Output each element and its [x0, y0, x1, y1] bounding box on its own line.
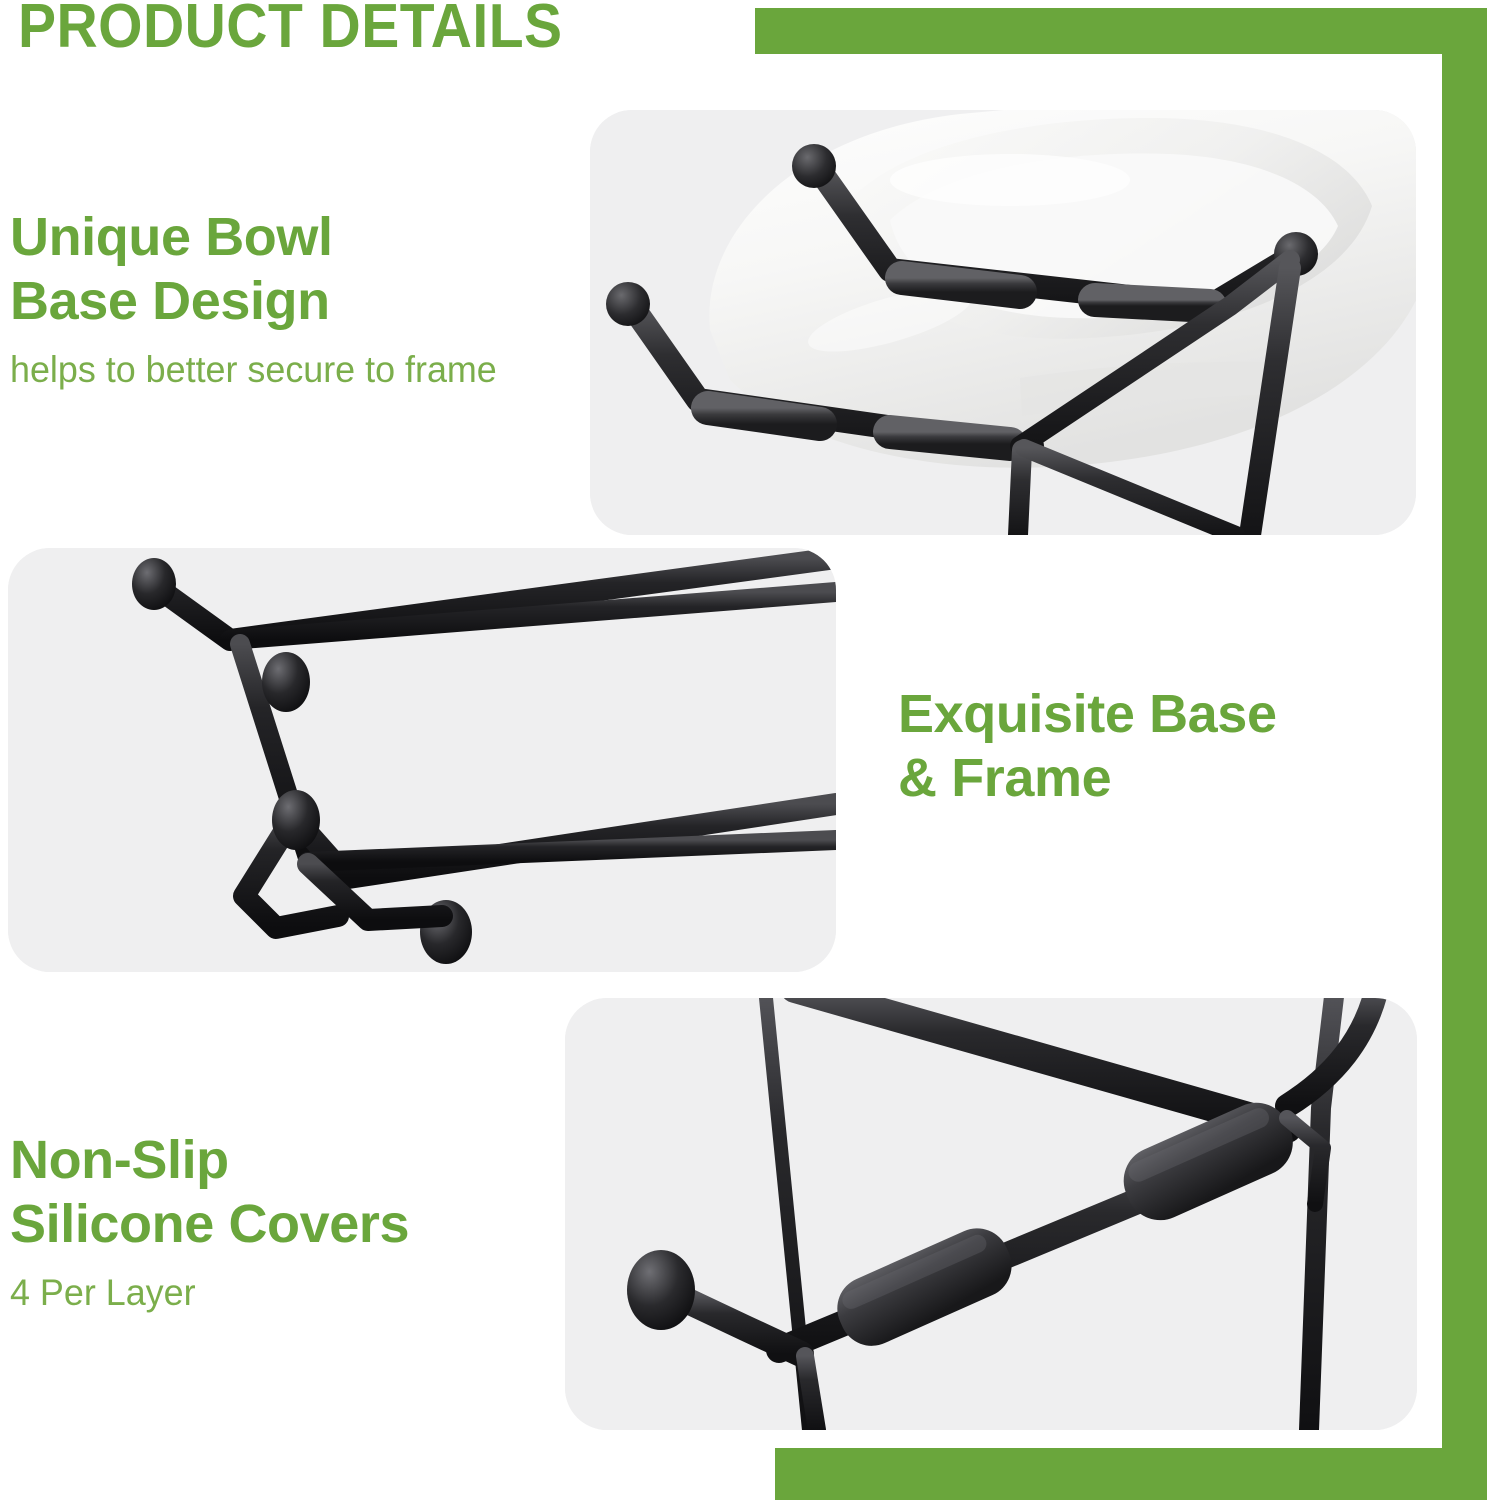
- feature-2-heading: Exquisite Base & Frame: [898, 682, 1418, 810]
- feature-1-subtitle: helps to better secure to frame: [10, 347, 553, 393]
- feature-2-photo: [8, 548, 836, 972]
- feature-3-subtitle: 4 Per Layer: [10, 1270, 534, 1316]
- bowl-in-frame-illustration: [590, 110, 1416, 535]
- frame-base-illustration: [8, 548, 836, 972]
- green-bar-top: [755, 8, 1487, 54]
- page-title: PRODUCT DETAILS: [18, 0, 563, 62]
- product-details-infographic: PRODUCT DETAILS Unique Bowl Base Design …: [0, 0, 1487, 1500]
- feature-2-text: Exquisite Base & Frame: [898, 682, 1418, 824]
- feature-1-photo: [590, 110, 1416, 535]
- green-bar-right: [1442, 8, 1487, 1500]
- feature-3-photo: [565, 998, 1417, 1430]
- feature-3-heading: Non-Slip Silicone Covers: [10, 1128, 550, 1256]
- silicone-cover-illustration: [565, 998, 1417, 1430]
- green-bar-bottom: [775, 1448, 1487, 1500]
- feature-3-text: Non-Slip Silicone Covers 4 Per Layer: [10, 1128, 550, 1316]
- feature-1-heading: Unique Bowl Base Design: [10, 205, 570, 333]
- feature-1-text: Unique Bowl Base Design helps to better …: [10, 205, 570, 393]
